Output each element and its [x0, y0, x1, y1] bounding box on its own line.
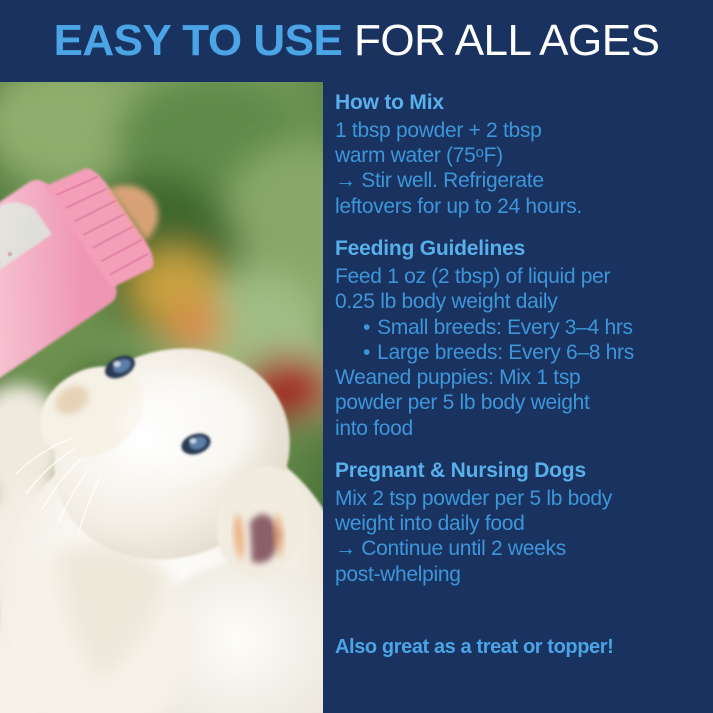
section-line: Weaned puppies: Mix 1 tsp — [335, 365, 699, 390]
tagline: Also great as a treat or topper! — [335, 636, 613, 659]
section-feeding-guidelines: Feeding Guidelines Feed 1 oz (2 tbsp) of… — [335, 236, 699, 441]
section-line: 0.25 lb body weight daily — [335, 289, 699, 314]
list-item: •Large breeds: Every 6–8 hrs — [335, 340, 699, 365]
puppy-photo — [0, 82, 323, 713]
section-how-to-mix: How to Mix 1 tbsp powder + 2 tbsp warm w… — [335, 90, 699, 219]
section-heading: Pregnant & Nursing Dogs — [335, 458, 699, 485]
section-line: warm water (75oF) — [335, 143, 699, 168]
page-title-plain: FOR ALL AGES — [342, 16, 659, 65]
section-line: → Stir well. Refrigerate — [335, 168, 699, 193]
section-line: powder per 5 lb body weight — [335, 390, 699, 415]
section-line: post-whelping — [335, 562, 699, 587]
section-line: Feed 1 oz (2 tbsp) of liquid per — [335, 264, 699, 289]
list-item-label: Large breeds: Every 6–8 hrs — [377, 341, 634, 364]
section-line: → Continue until 2 weeks — [335, 536, 699, 561]
section-heading: How to Mix — [335, 90, 699, 117]
header-banner: EASY TO USE FOR ALL AGES — [0, 0, 713, 82]
temp-prefix: warm water (75 — [335, 144, 476, 167]
list-item: •Small breeds: Every 3–4 hrs — [335, 315, 699, 340]
bullet-icon: • — [363, 316, 370, 339]
section-line: Mix 2 tsp powder per 5 lb body — [335, 486, 699, 511]
degree-symbol: o — [476, 144, 484, 161]
section-heading: Feeding Guidelines — [335, 236, 699, 263]
section-pregnant-nursing-dogs: Pregnant & Nursing Dogs Mix 2 tsp powder… — [335, 458, 699, 587]
bullet-icon: • — [363, 341, 370, 364]
list-item-label: Small breeds: Every 3–4 hrs — [377, 316, 633, 339]
section-line: 1 tbsp powder + 2 tbsp — [335, 118, 699, 143]
poster-root: EASY TO USE FOR ALL AGES — [0, 0, 713, 713]
section-line: weight into daily food — [335, 511, 699, 536]
section-line: leftovers for up to 24 hours. — [335, 194, 699, 219]
temp-suffix: F) — [484, 144, 503, 167]
instructions-panel: How to Mix 1 tbsp powder + 2 tbsp warm w… — [323, 82, 713, 713]
page-title: EASY TO USE FOR ALL AGES — [54, 19, 660, 63]
page-title-accent: EASY TO USE — [54, 16, 343, 65]
section-line: into food — [335, 416, 699, 441]
